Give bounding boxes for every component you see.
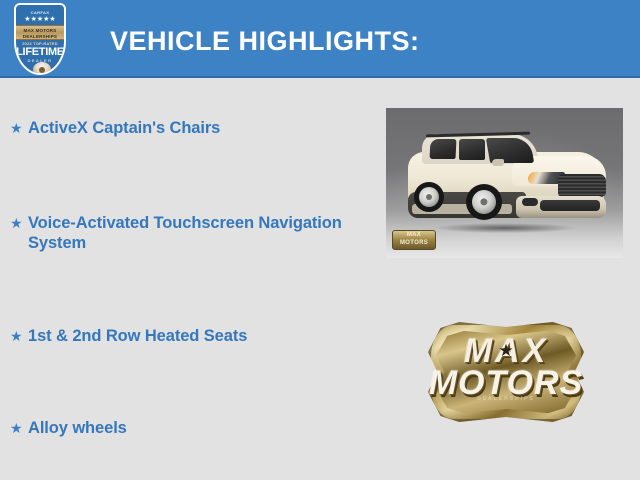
list-item: ★ 1st & 2nd Row Heated Seats [10, 326, 365, 346]
rear-alloy-rim [419, 187, 439, 207]
lower-grille [540, 200, 600, 211]
logo-star-icon: ★ [498, 342, 513, 359]
list-item-label: 1st & 2nd Row Heated Seats [28, 326, 247, 346]
front-wheel-hub [480, 198, 487, 205]
rear-window [429, 139, 456, 159]
list-item-label: ActiveX Captain's Chairs [28, 118, 220, 138]
badge-gold-band: MAX MOTORS DEALERSHIPS [14, 25, 66, 40]
badge-stars-icon: ★★★★★ [16, 16, 64, 23]
vehicle-photo[interactable]: MAX MOTORS [386, 108, 623, 258]
dog-mascot-icon [33, 62, 51, 75]
page-header: CARFAX ★★★★★ MAX MOTORS DEALERSHIPS 2023… [0, 0, 640, 78]
list-item: ★ Voice-Activated Touchscreen Navigation… [10, 213, 365, 253]
logo-word-motors: MOTORS [428, 366, 584, 400]
suv-illustration [400, 126, 610, 238]
front-wheel [466, 184, 502, 220]
badge-dealer-name-line1: MAX MOTORS [14, 26, 66, 34]
watermark-line1: MAX [393, 231, 435, 239]
fog-lamp [522, 198, 538, 206]
logo-tagline: DEALERSHIPS [428, 396, 584, 402]
badge-dealer-name-line2: DEALERSHIPS [14, 34, 66, 40]
watermark-line2: MOTORS [393, 239, 435, 247]
badge-shield-shape: CARFAX ★★★★★ MAX MOTORS DEALERSHIPS 2023… [14, 3, 66, 75]
side-mirror [492, 159, 504, 166]
badge-carfax-wordmark: CARFAX [16, 10, 64, 15]
rear-wheel-hub [426, 194, 432, 200]
star-bullet-icon: ★ [10, 326, 28, 346]
page-title: VEHICLE HIGHLIGHTS: [110, 26, 420, 57]
front-alloy-rim [472, 190, 496, 214]
max-motors-logo[interactable]: MAX ★ MOTORS DEALERSHIPS [428, 322, 584, 422]
list-item: ★ ActiveX Captain's Chairs [10, 118, 365, 138]
side-window [459, 139, 485, 160]
carfax-lifetime-dealer-badge: CARFAX ★★★★★ MAX MOTORS DEALERSHIPS 2023… [14, 3, 66, 75]
rear-wheel [414, 182, 444, 212]
list-item-label: Voice-Activated Touchscreen Navigation S… [28, 213, 365, 253]
vehicle-highlights-list: ★ ActiveX Captain's Chairs ★ Voice-Activ… [0, 78, 370, 480]
front-grille [558, 174, 606, 197]
star-bullet-icon: ★ [10, 118, 28, 138]
photo-watermark-logo: MAX MOTORS [392, 230, 436, 250]
badge-award-title: LIFETIME [16, 46, 64, 58]
star-bullet-icon: ★ [10, 418, 28, 438]
star-bullet-icon: ★ [10, 213, 28, 233]
list-item: ★ Alloy wheels [10, 418, 365, 438]
list-item-label: Alloy wheels [28, 418, 127, 438]
